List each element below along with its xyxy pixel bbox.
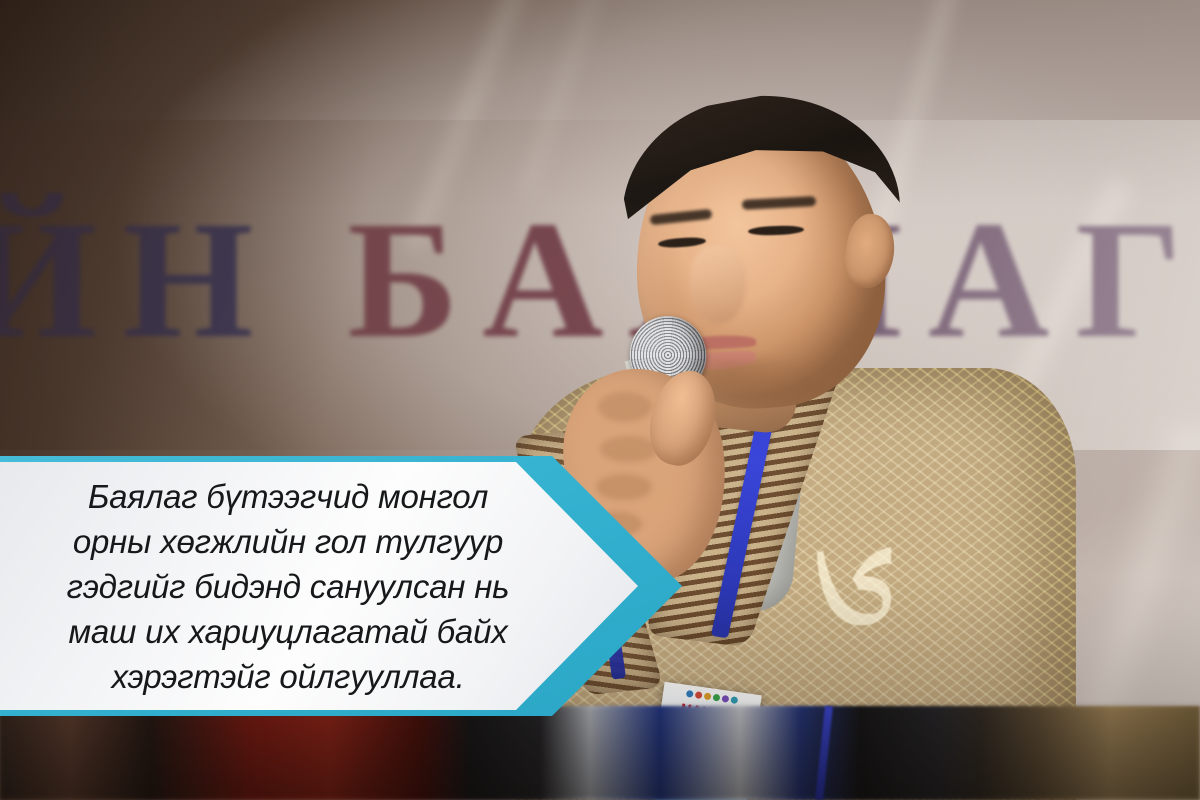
cardigan-motif: ༦ — [806, 511, 976, 726]
badge-emblem-icon — [730, 696, 738, 704]
finger-crease — [596, 474, 652, 500]
nose — [690, 246, 746, 324]
finger-crease — [598, 392, 652, 422]
badge-emblem-icon — [695, 691, 703, 699]
foreground-audience-shading — [0, 706, 1200, 800]
screenshot-root: ЙН БАЯЛАГ ༦ — [0, 0, 1200, 800]
quote-panel: Баялаг бүтээгчид монгол орны хөгжлийн го… — [0, 462, 638, 710]
badge-emblem-icon — [713, 694, 721, 702]
badge-emblem-icon — [686, 690, 694, 698]
finger-crease — [600, 436, 658, 462]
badge-emblem-icon — [704, 692, 712, 700]
badge-emblem-icon — [721, 695, 729, 703]
quote-text: Баялаг бүтээгчид монгол орны хөгжлийн го… — [28, 474, 548, 699]
